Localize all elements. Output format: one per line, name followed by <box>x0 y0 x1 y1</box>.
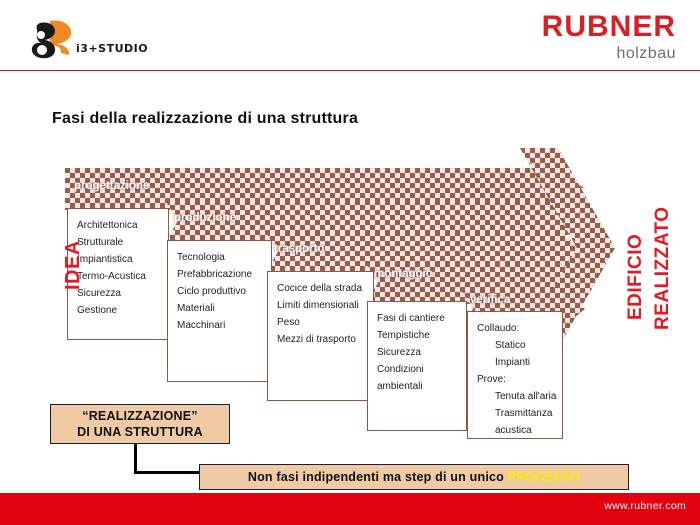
list-item: Tempistiche <box>377 327 457 344</box>
list-item: Cocice della strada <box>277 280 364 297</box>
phase-box-montaggio: Fasi di cantiere Tempistiche Sicurezza C… <box>367 301 467 431</box>
callout-processo: Non fasi indipendenti ma step di un unic… <box>199 464 629 490</box>
label-edificio: EDIFICIO <box>625 234 647 320</box>
list-item: Impianti <box>477 354 553 371</box>
list-item: Architettonica <box>77 217 159 234</box>
label-realizzato: REALIZZATO <box>652 206 674 330</box>
connector-horizontal <box>134 471 202 474</box>
list-item: Peso <box>277 314 364 331</box>
list-item: ambientali <box>377 378 457 395</box>
list-item: Macchinari <box>177 317 262 334</box>
list-item: Sicurezza <box>77 285 159 302</box>
list-item: Condizioni <box>377 361 457 378</box>
callout-processo-prefix: Non fasi indipendenti ma step di un unic… <box>248 470 508 484</box>
list-item: Trasmittanza <box>477 405 553 422</box>
list-item: Collaudo: <box>477 320 553 337</box>
list-item: Gestione <box>77 302 159 319</box>
b3-logo-icon <box>28 18 78 60</box>
label-idea: IDEA <box>62 240 85 290</box>
phase-box-produzione: Tecnologia Prefabbricazione Ciclo produt… <box>167 240 272 382</box>
list-item: Tecnologia <box>177 249 262 266</box>
list-item: Impiantistica <box>77 251 159 268</box>
slide-canvas: i3+STUDIO RUBNER holzbau Fasi della real… <box>0 0 700 525</box>
footer-bar: www.rubner.com <box>0 493 700 525</box>
callout-processo-highlight: PROCESSO <box>508 470 580 484</box>
list-item: Fasi di cantiere <box>377 310 457 327</box>
phase-box-verifica: Collaudo: Statico Impianti Prove: Tenuta… <box>467 311 563 439</box>
callout-realizzazione: “REALIZZAZIONE” DI UNA STRUTTURA <box>50 404 230 444</box>
page-title: Fasi della realizzazione di una struttur… <box>52 110 358 128</box>
list-item: Prefabbricazione <box>177 266 262 283</box>
list-item: Statico <box>477 337 553 354</box>
list-item: Tenuta all'aria <box>477 388 553 405</box>
rubner-brand-text: RUBNER <box>542 12 676 42</box>
i3studio-wordmark: i3+STUDIO <box>76 42 148 55</box>
callout-line-1: “REALIZZAZIONE” <box>82 408 198 424</box>
connector-vertical <box>134 444 137 474</box>
list-item: Termo-Acustica <box>77 268 159 285</box>
rubner-logo: RUBNER holzbau <box>542 12 676 64</box>
header-divider <box>0 70 700 71</box>
list-item: Ciclo produttivo <box>177 283 262 300</box>
list-item: Strutturale <box>77 234 159 251</box>
i3studio-logo: i3+STUDIO <box>28 18 188 62</box>
callout-line-2: DI UNA STRUTTURA <box>77 424 203 440</box>
list-item: Materiali <box>177 300 262 317</box>
list-item: Mezzi di trasporto <box>277 331 364 348</box>
list-item: Limiti dimensionali <box>277 297 364 314</box>
list-item: acustica <box>477 422 553 439</box>
rubner-sub-text: holzbau <box>542 44 676 64</box>
callout-processo-text: Non fasi indipendenti ma step di un unic… <box>248 469 580 485</box>
list-item: Sicurezza <box>377 344 457 361</box>
phase-box-trasporto: Cocice della strada Limiti dimensionali … <box>267 271 374 401</box>
list-item: Prove: <box>477 371 553 388</box>
footer-url: www.rubner.com <box>604 500 686 512</box>
